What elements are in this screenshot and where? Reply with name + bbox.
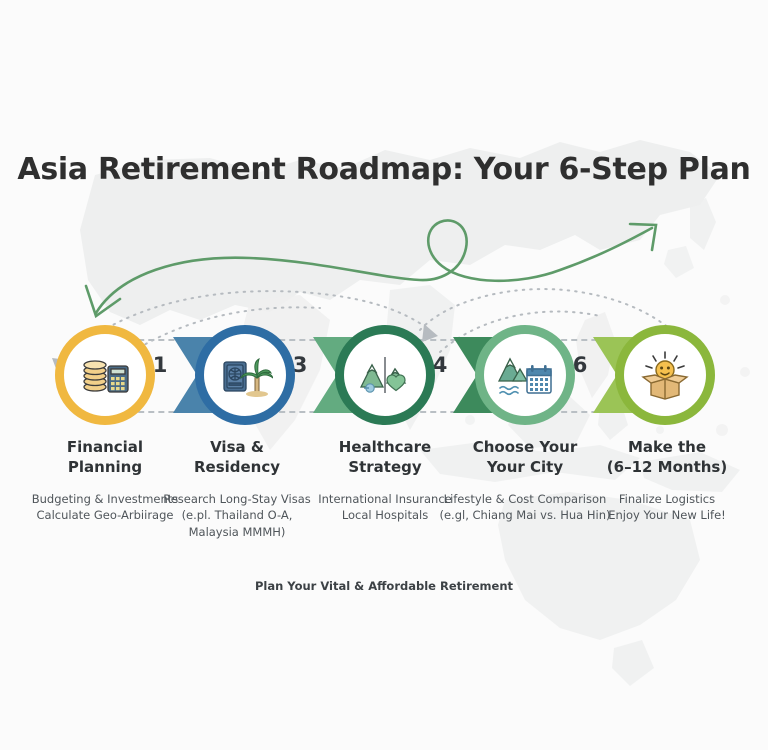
step-node-healthcare-strategy[interactable] — [335, 325, 435, 425]
open-box-smiley-icon — [637, 347, 693, 403]
step-node-financial-planning[interactable] — [55, 325, 155, 425]
step-node-visa-residency[interactable] — [195, 325, 295, 425]
green-loop-arrow — [86, 220, 656, 316]
mountain-calendar-icon — [497, 347, 553, 403]
step-chain: 1 3 4 6 — [0, 325, 768, 435]
step-node-choose-city[interactable] — [475, 325, 575, 425]
caption-subtitle-5: Finalize Logistics Enjoy Your New Life! — [578, 491, 756, 524]
mountains-heart-icon — [357, 347, 413, 403]
passport-palm-icon — [217, 347, 273, 403]
poster-title: Asia Retirement Roadmap: Your 6-Step Pla… — [0, 152, 768, 187]
poster-tagline: Plan Your Vital & Affordable Retirement — [0, 579, 768, 593]
coins-calculator-icon — [77, 347, 133, 403]
caption-make-the-move: Make the (6–12 Months) Finalize Logistic… — [578, 438, 756, 524]
calendar-glyph — [527, 365, 551, 393]
infographic-canvas: Asia Retirement Roadmap: Your 6-Step Pla… — [0, 0, 768, 750]
step-node-make-the-move[interactable] — [615, 325, 715, 425]
caption-title-5: Make the (6–12 Months) — [578, 438, 756, 477]
